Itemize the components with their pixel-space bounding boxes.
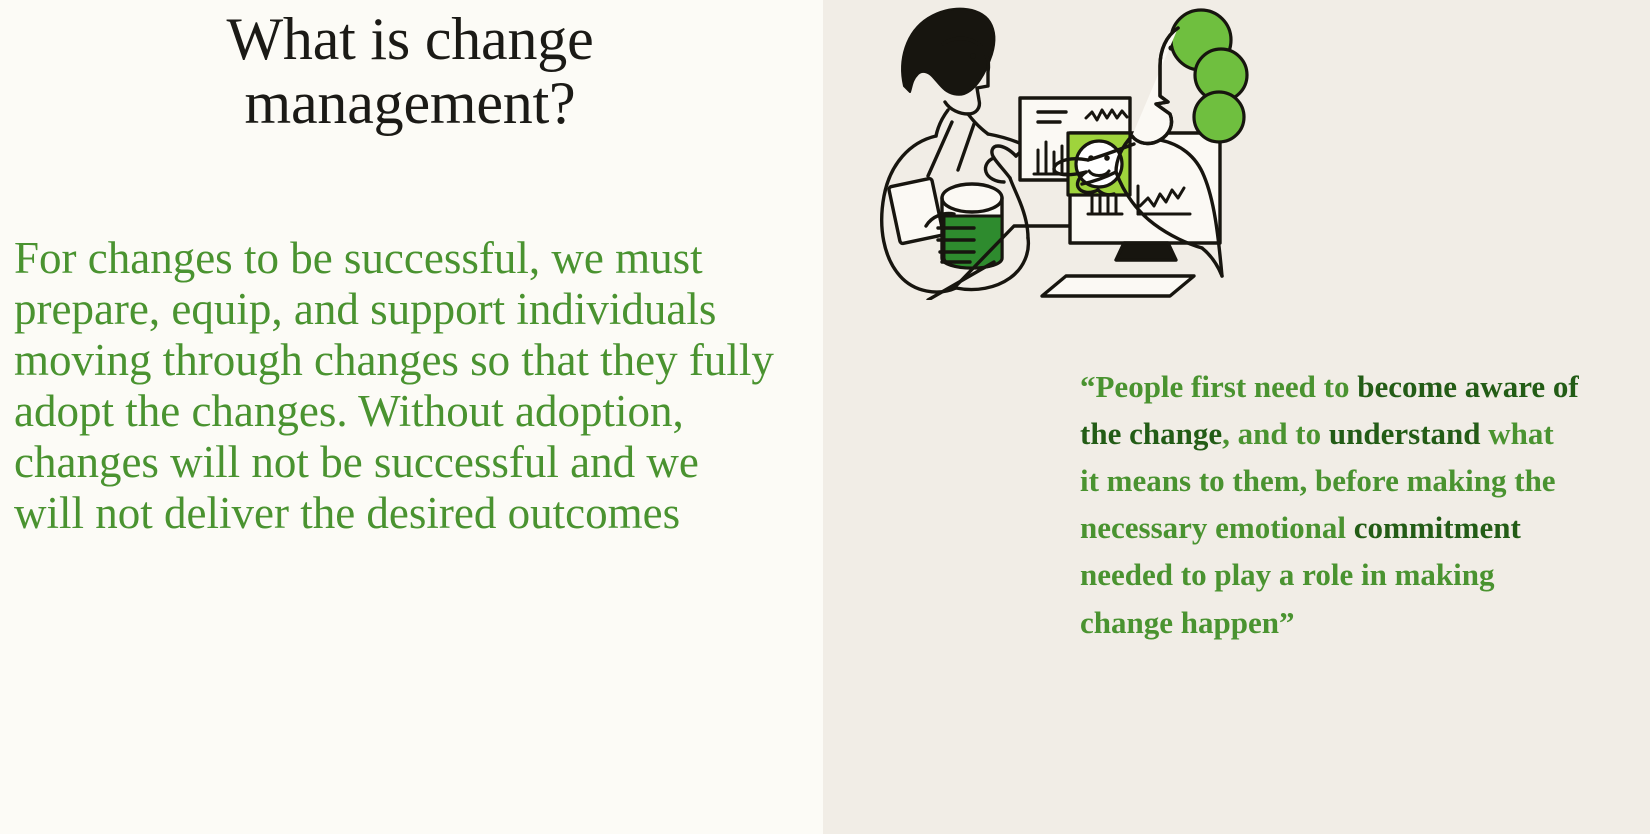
quote-segment: , and to [1222,416,1329,451]
right-content-panel: “People first need to become aware of th… [823,0,1650,834]
body-paragraph: For changes to be successful, we must pr… [14,233,774,539]
quote-segment-emphasis: commitment [1354,510,1521,545]
quote-segment: needed to play a role in making change h… [1080,557,1495,639]
pull-quote: “People first need to become aware of th… [1080,363,1580,646]
quote-segment-emphasis: understand [1329,416,1481,451]
slide-root: What is change management? For changes t… [0,0,1650,834]
left-content-panel: What is change management? For changes t… [0,0,823,834]
quote-segment: “People first need to [1080,369,1357,404]
page-title: What is change management? [60,8,760,135]
two-people-reviewing-dashboard-illustration [798,0,1298,300]
